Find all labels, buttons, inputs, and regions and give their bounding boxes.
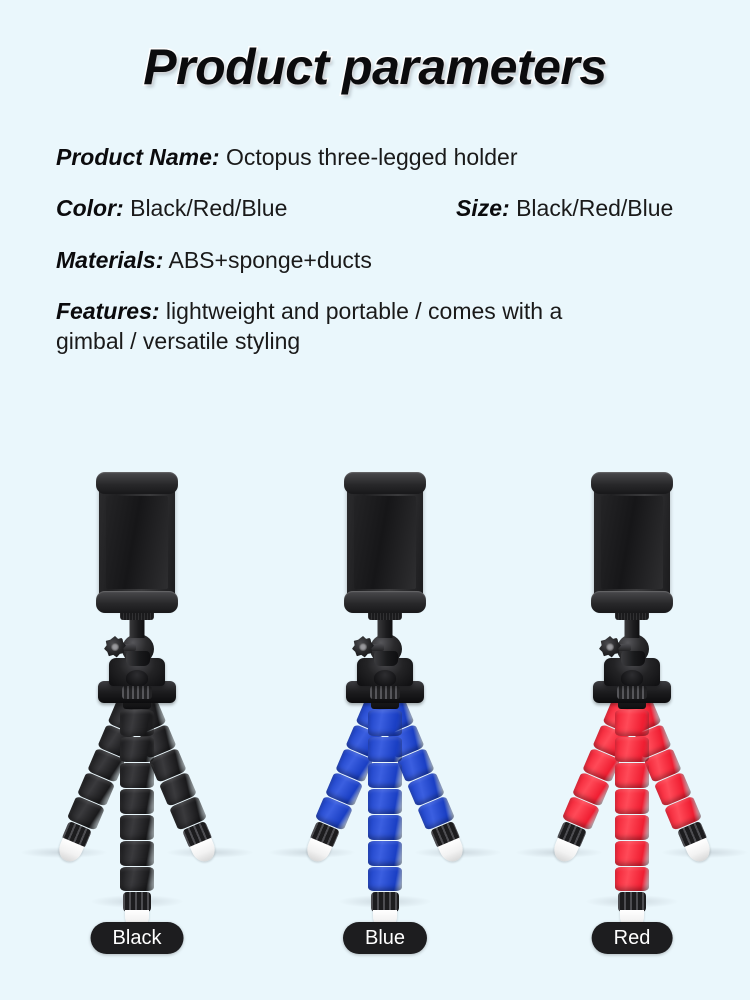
- leg-foam-segment: [368, 710, 402, 736]
- leg-foam-segment: [615, 841, 649, 866]
- spec-label-product-name: Product Name:: [56, 144, 220, 170]
- clamp-pad: [106, 496, 168, 589]
- phone-clamp: [347, 476, 423, 609]
- spec-label-materials: Materials:: [56, 247, 163, 273]
- clamp-stem: [378, 619, 393, 638]
- clamp-jaw-bottom: [344, 591, 426, 613]
- leg-ferrule: [123, 892, 150, 912]
- clamp-stem: [625, 619, 640, 638]
- hub-ring: [617, 686, 647, 699]
- clamp-jaw-top: [96, 472, 178, 494]
- spec-group-size: Size: Black/Red/Blue: [456, 193, 716, 223]
- product-tripod-red: [507, 462, 750, 932]
- leg-ferrule: [618, 892, 645, 912]
- leg-ferrule: [371, 892, 398, 912]
- leg-foam-segment: [368, 763, 402, 788]
- leg-foam-segment: [368, 841, 402, 866]
- spec-row-features: Features: lightweight and portable / com…: [56, 296, 576, 357]
- spec-row-product-name: Product Name: Octopus three-legged holde…: [56, 142, 716, 172]
- spec-value-size: Black/Red/Blue: [510, 195, 674, 221]
- phone-clamp: [99, 476, 175, 609]
- clamp-pad: [601, 496, 663, 589]
- thumbscrew-knob: [599, 636, 625, 660]
- knob-center-dot: [606, 643, 614, 651]
- leg-foam-segment: [120, 763, 154, 788]
- knob-center-dot: [111, 643, 119, 651]
- spec-value-color: Black/Red/Blue: [124, 195, 288, 221]
- color-badge-row: Black Blue Red: [0, 922, 750, 962]
- leg-foam-segment: [120, 710, 154, 736]
- tripod-leg-center: [615, 698, 649, 930]
- clamp-pad: [354, 496, 416, 589]
- leg-foam-segment: [120, 841, 154, 866]
- clamp-stem: [130, 619, 145, 638]
- spec-group-color: Color: Black/Red/Blue: [56, 193, 456, 223]
- spec-label-features: Features:: [56, 298, 160, 324]
- knob-center-dot: [359, 643, 367, 651]
- phone-clamp: [594, 476, 670, 609]
- clamp-jaw-bottom: [591, 591, 673, 613]
- color-badge-blue: Blue: [343, 922, 427, 954]
- spec-row-color-size: Color: Black/Red/Blue Size: Black/Red/Bl…: [56, 193, 716, 223]
- leg-foam-segment: [368, 737, 402, 762]
- hub-ring: [370, 686, 400, 699]
- spec-label-color: Color:: [56, 195, 124, 221]
- leg-foam-segment: [615, 737, 649, 762]
- thumbscrew-knob: [104, 636, 130, 660]
- leg-foam-segment: [120, 789, 154, 814]
- product-tripod-blue: [260, 462, 510, 932]
- spec-value-product-name: Octopus three-legged holder: [220, 144, 518, 170]
- clamp-jaw-bottom: [96, 591, 178, 613]
- leg-foam-segment: [368, 867, 402, 891]
- thumbscrew-knob: [352, 636, 378, 660]
- page-title-container: Product parameters: [0, 38, 750, 96]
- spec-label-size: Size:: [456, 195, 510, 221]
- page-title: Product parameters: [143, 38, 606, 96]
- tripod-leg-center: [368, 698, 402, 930]
- leg-foam-segment: [615, 815, 649, 840]
- color-badge-red: Red: [592, 922, 673, 954]
- clamp-jaw-top: [591, 472, 673, 494]
- color-badge-black: Black: [91, 922, 184, 954]
- leg-foam-segment: [615, 710, 649, 736]
- hub-ring: [122, 686, 152, 699]
- leg-foam-segment: [615, 867, 649, 891]
- leg-foam-segment: [615, 789, 649, 814]
- leg-foam-segment: [120, 867, 154, 891]
- tripod-leg-center: [120, 698, 154, 930]
- spec-value-materials: ABS+sponge+ducts: [163, 247, 371, 273]
- leg-foam-segment: [615, 763, 649, 788]
- clamp-jaw-top: [344, 472, 426, 494]
- leg-foam-segment: [368, 815, 402, 840]
- product-image-row: [0, 462, 750, 932]
- leg-foam-segment: [120, 737, 154, 762]
- leg-foam-segment: [368, 789, 402, 814]
- product-tripod-black: [12, 462, 262, 932]
- spec-row-materials: Materials: ABS+sponge+ducts: [56, 245, 716, 275]
- leg-foam-segment: [120, 815, 154, 840]
- product-parameters-list: Product Name: Octopus three-legged holde…: [56, 142, 716, 378]
